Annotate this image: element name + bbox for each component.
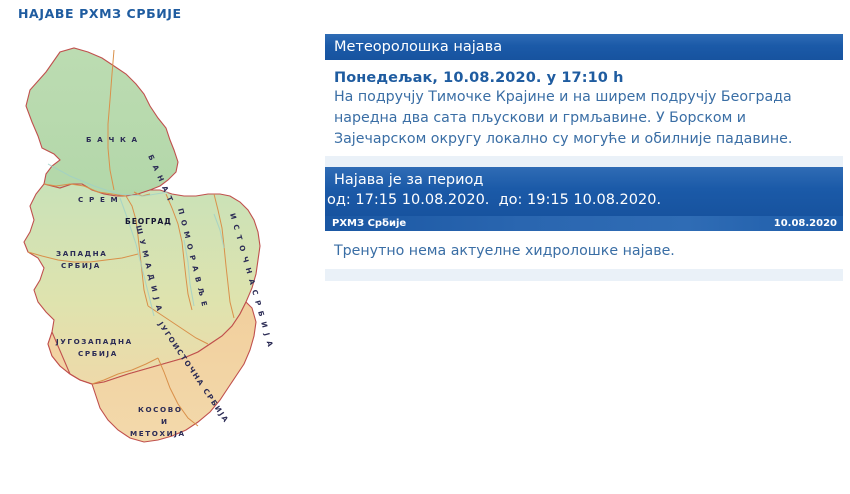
meteo-period-block: Најава је за период од: 17:15 10.08.2020… <box>325 167 843 216</box>
map-label-beograd: БЕОГРАД <box>125 217 172 226</box>
alert-panel: Метеоролошка најава Понедељак, 10.08.202… <box>325 34 843 281</box>
meteo-alert-text: На подручју Тимочке Крајине и на ширем п… <box>334 87 841 150</box>
panel-divider-strip <box>325 156 843 167</box>
map-label-srem: С Р Е М <box>78 195 119 204</box>
meteo-alert-header: Метеоролошка најава <box>325 34 843 60</box>
map-label-jugozapadna: ЈУГОЗАПАДНА <box>55 337 133 346</box>
map-label-kosovo: КОСОВО <box>138 405 183 414</box>
page-title: НАЈАВЕ РХМЗ СРБИЈЕ <box>18 6 182 21</box>
map-label-kosovo2: И <box>161 417 169 426</box>
source-date: 10.08.2020 <box>774 216 837 231</box>
serbia-region-map[interactable]: Б А Ч К АБ А Н А ТС Р Е МБЕОГРАДЗАПАДНАС… <box>8 44 308 444</box>
map-label-zapadna: ЗАПАДНА <box>56 249 107 258</box>
meteo-period-header: Најава је за период <box>325 170 843 190</box>
panel-bottom-strip <box>325 269 843 281</box>
source-name: РХМЗ Србије <box>332 216 406 231</box>
hydro-alert-body: Тренутно нема актуелне хидролошке најаве… <box>325 231 843 269</box>
source-bar: РХМЗ Србије 10.08.2020 <box>325 216 843 231</box>
meteo-alert-date: Понедељак, 10.08.2020. у 17:10 h <box>334 70 841 86</box>
hydro-alert-text: Тренутно нема актуелне хидролошке најаве… <box>334 242 843 261</box>
map-label-zapadna2: СРБИЈА <box>61 261 101 270</box>
meteo-alert-body: Понедељак, 10.08.2020. у 17:10 h На подр… <box>325 60 843 156</box>
map-label-backa: Б А Ч К А <box>86 135 139 144</box>
map-svg: Б А Ч К АБ А Н А ТС Р Е МБЕОГРАДЗАПАДНАС… <box>8 44 308 444</box>
meteo-period-range: од: 17:15 10.08.2020. до: 19:15 10.08.20… <box>325 190 843 211</box>
map-label-kosovo3: МЕТОХИЈА <box>130 429 186 438</box>
map-label-jugozapadna2: СРБИЈА <box>78 349 118 358</box>
